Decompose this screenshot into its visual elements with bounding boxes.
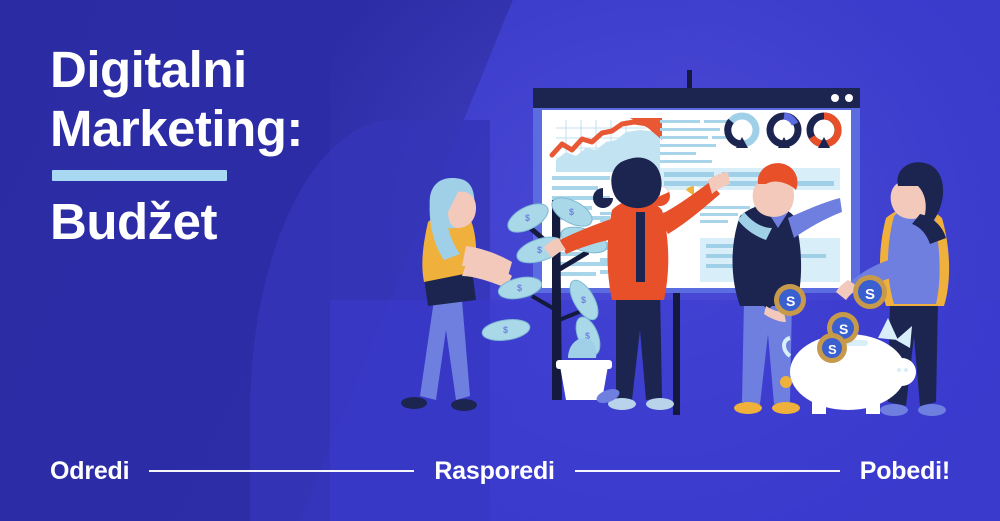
piggy-snout <box>888 358 916 386</box>
board-dot-2 <box>845 94 853 102</box>
redhair-shoe-1 <box>734 402 762 414</box>
piggy-leg-1 <box>812 400 826 414</box>
woman-left-shoe-2 <box>451 399 477 411</box>
steps-strip: Odredi Rasporedi Pobedi! <box>0 451 1000 491</box>
coin-falling-4: S <box>817 333 847 363</box>
headline-block: Digitalni Marketing: Budžet <box>50 40 450 251</box>
womanright-shoe-2 <box>918 404 946 416</box>
board-title-bar <box>533 88 860 108</box>
step-2-label: Rasporedi <box>434 457 554 486</box>
presenter-legs <box>616 290 662 400</box>
coin-falling-2: S <box>853 275 887 309</box>
svg-text:$: $ <box>569 207 574 217</box>
step-3-label: Pobedi! <box>860 457 950 486</box>
svg-text:S: S <box>786 293 795 309</box>
womanright-shoe-1 <box>880 404 908 416</box>
accent-underline-bar <box>52 170 227 181</box>
woman-left-legs <box>420 300 470 400</box>
presenter-hair <box>611 158 661 209</box>
board-top-pin <box>687 70 692 88</box>
svg-text:S: S <box>828 342 837 357</box>
step-connector-2 <box>575 470 840 472</box>
svg-text:S: S <box>865 286 875 303</box>
board-stand-pole <box>673 280 680 415</box>
svg-text:S: S <box>839 321 848 337</box>
presenter-shoe-2 <box>646 398 674 410</box>
svg-text:$: $ <box>525 213 530 223</box>
coin-ground <box>780 376 792 388</box>
board-dot-1 <box>831 94 839 102</box>
headline-line-1: Digitalni <box>50 40 450 99</box>
svg-text:$: $ <box>581 295 586 305</box>
presenter-tie <box>636 212 645 282</box>
svg-text:$: $ <box>537 245 542 255</box>
promo-banner: $ $ $ $ $ $ $ $ <box>0 0 1000 521</box>
woman-left-shoe-1 <box>401 397 427 409</box>
coin-falling-1: S <box>774 284 806 316</box>
board-table-block <box>660 168 840 190</box>
step-connector-1 <box>149 470 414 472</box>
tree-pot-rim <box>556 360 612 369</box>
headline-subtitle: Budžet <box>50 193 450 251</box>
headline-line-2: Marketing: <box>50 99 450 158</box>
svg-text:$: $ <box>517 283 522 293</box>
svg-text:$: $ <box>503 325 508 335</box>
piggy-leg-2 <box>866 400 880 414</box>
step-1-label: Odredi <box>50 457 129 486</box>
redhair-shoe-2 <box>772 402 800 414</box>
